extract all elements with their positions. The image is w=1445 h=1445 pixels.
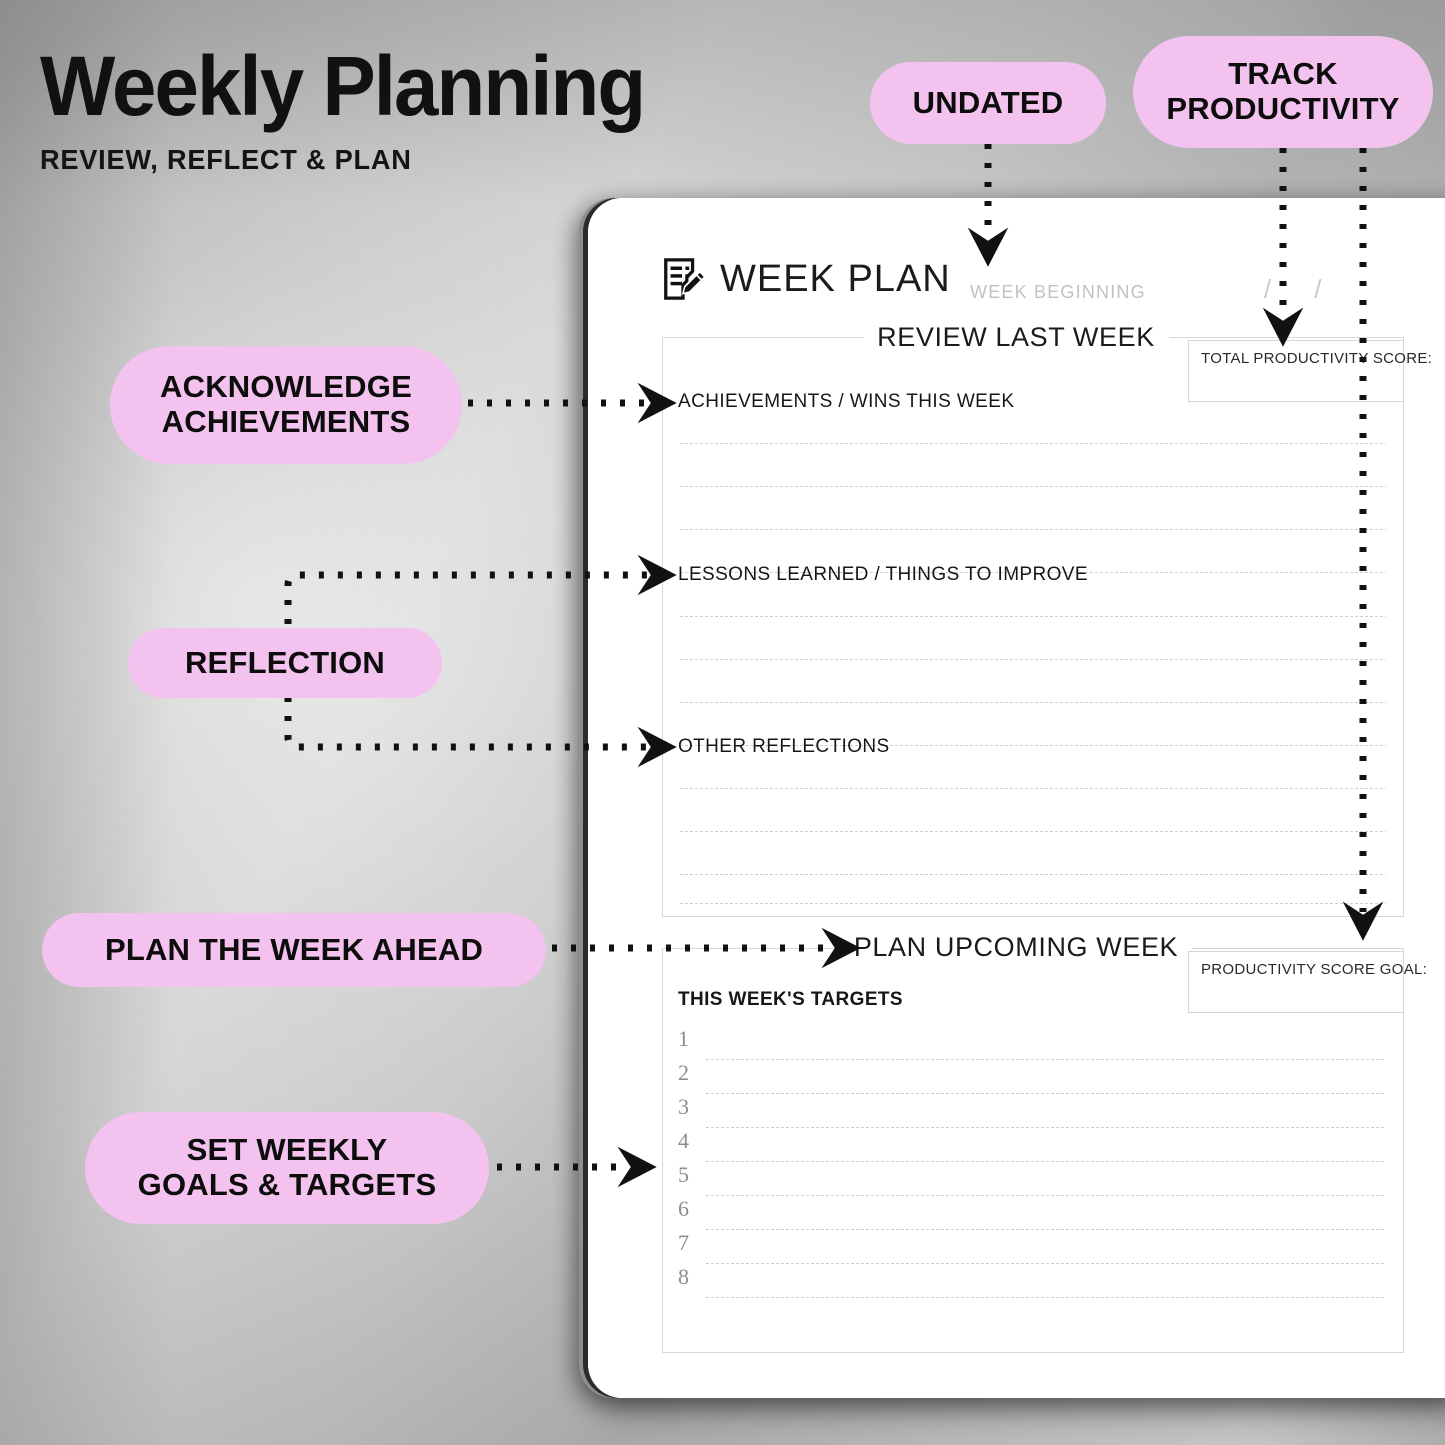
callout-acknowledge-line1: ACKNOWLEDGE <box>160 370 412 405</box>
callout-acknowledge-achievements[interactable]: ACKNOWLEDGE ACHIEVEMENTS <box>110 346 462 464</box>
callout-set-weekly-goals[interactable]: SET WEEKLY GOALS & TARGETS <box>85 1112 489 1224</box>
callout-track-productivity[interactable]: TRACK PRODUCTIVITY <box>1133 36 1433 148</box>
callout-undated[interactable]: UNDATED <box>870 62 1106 144</box>
callout-reflection-label: REFLECTION <box>185 646 385 681</box>
callout-acknowledge-line2: ACHIEVEMENTS <box>162 405 411 440</box>
callout-reflection[interactable]: REFLECTION <box>128 628 442 698</box>
callout-plan-the-week-ahead[interactable]: PLAN THE WEEK AHEAD <box>42 913 546 987</box>
callout-set-weekly-line1: SET WEEKLY <box>187 1133 388 1168</box>
callout-track-productivity-line1: TRACK <box>1228 57 1338 92</box>
callout-set-weekly-line2: GOALS & TARGETS <box>138 1168 437 1203</box>
callout-undated-label: UNDATED <box>913 86 1064 121</box>
connector-lines <box>0 0 1445 1445</box>
callout-track-productivity-line2: PRODUCTIVITY <box>1166 92 1399 127</box>
callout-plan-week-label: PLAN THE WEEK AHEAD <box>105 933 483 968</box>
